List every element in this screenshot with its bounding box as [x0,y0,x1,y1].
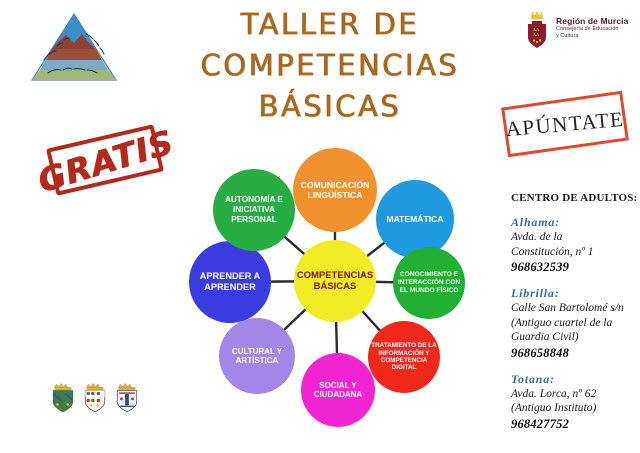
diagram-node-aprender-a-aprender: APRENDER A APRENDER [189,241,271,323]
title-line-1: TALLER DE [150,4,510,45]
diagram-node-social-y-ciudadana: SOCIAL Y CIUDADANA [301,353,375,427]
contact-address-line: Avda. Lorca, nº 62 [511,387,639,402]
contact-entry: Librilla:Calle San Bartolomé s/n(Antiguo… [511,286,639,361]
contact-entry: Alhama:Avda. de laConstitución, nº 19686… [511,215,639,275]
murcia-shield-icon: AA AA [524,12,550,50]
diagram-connector [336,320,337,355]
diagram-node-autonomia-e-iniciativa-personal: AUTONOMÍA E INICIATIVA PERSONAL [213,169,295,251]
diagram-node-label: CULTURAL Y ARTÍSTICA [221,347,293,366]
educacion-adultos-logo [24,8,124,86]
contact-address-line: Calle San Bartolomé s/n [511,301,639,316]
contact-address-line: (Antiguo Instituto) [511,401,639,416]
region-subtitle-2: y Cultura [556,33,628,40]
title-line-2: COMPETENCIAS [150,45,510,86]
diagram-center-node-competencias-basicas: COMPETENCIAS BÁSICAS [294,240,376,322]
contact-address-line: Avda. de la [511,230,639,245]
contact-phone[interactable]: 968632539 [511,259,639,275]
diagram-node-tratamiento-de-la-informacion-y-competen: TRATAMIENTO DE LA INFORMACIÓN Y COMPETEN… [368,321,440,393]
diagram-connector [283,308,307,331]
shield-totana-icon [114,382,140,412]
contact-entries: Alhama:Avda. de laConstitución, nº 19686… [511,215,639,432]
diagram-node-label: COMUNICACIÓN LINGÜÍSTICA [295,180,375,200]
diagram-node-label: APRENDER A APRENDER [191,271,269,293]
diagram-node-label: COMPETENCIAS BÁSICAS [296,270,374,292]
contact-city-name: Totana: [511,372,639,387]
region-subtitle-1: Consejería de Educación [556,26,628,33]
title-line-3: BÁSICAS [150,86,510,127]
contact-phone[interactable]: 968427752 [511,416,639,432]
contact-panel: CENTRO DE ADULTOS: Alhama:Avda. de laCon… [511,192,639,443]
apuntate-stamp-label: APÚNTATE [502,94,628,154]
diagram-node-matematica: MATEMÁTICA [376,180,454,258]
svg-text:AA: AA [533,32,540,37]
shield-alhama-icon [50,382,76,412]
region-name: Región de Murcia [556,16,628,26]
diagram-connector [366,242,386,257]
region-de-murcia-logo: AA AA Región de Murcia Consejería de Edu… [524,12,636,52]
apuntate-stamp: APÚNTATE [501,91,629,157]
diagram-node-label: TRATAMIENTO DE LA INFORMACIÓN Y COMPETEN… [370,342,438,372]
page-title: TALLER DE COMPETENCIAS BÁSICAS [150,4,510,127]
diagram-connector [283,236,305,256]
contact-phone[interactable]: 968658848 [511,345,639,361]
contact-address-line: Constitución, nº 1 [511,245,639,260]
gratis-stamp-label: GRATIS [46,122,165,200]
contact-entry: Totana:Avda. Lorca, nº 62(Antiguo Instit… [511,372,639,432]
diagram-node-label: MATEMÁTICA [386,214,443,224]
contact-city-name: Librilla: [511,286,639,301]
diagram-node-conocimiento-e-interaccion-con-el-mundo-: CONOCIMIENTO E INTERACCIÓN CON EL MUNDO … [393,247,465,319]
contact-address-line: (Antiguo cuartel de la [511,316,639,331]
diagram-connector [361,310,381,332]
municipal-shields [50,382,140,412]
contact-heading: CENTRO DE ADULTOS: [511,192,639,204]
competencias-basicas-diagram: COMUNICACIÓN LINGÜÍSTICAMATEMÁTICACONOCI… [185,140,485,430]
shield-librilla-icon [82,382,108,412]
diagram-node-cultural-y-artistica: CULTURAL Y ARTÍSTICA [219,318,295,394]
diagram-node-label: CONOCIMIENTO E INTERACCIÓN CON EL MUNDO … [395,271,463,294]
adult-logo-graphic [24,8,124,86]
diagram-node-label: AUTONOMÍA E INICIATIVA PERSONAL [215,195,293,224]
gratis-stamp: GRATIS [46,124,164,196]
contact-address-line: Guardia Civil) [511,330,639,345]
region-logo-text: Región de Murcia Consejería de Educación… [556,12,628,40]
diagram-node-comunicacion-linguistica: COMUNICACIÓN LINGÜÍSTICA [293,148,377,232]
diagram-node-label: SOCIAL Y CIUDADANA [303,381,373,400]
contact-city-name: Alhama: [511,215,639,230]
